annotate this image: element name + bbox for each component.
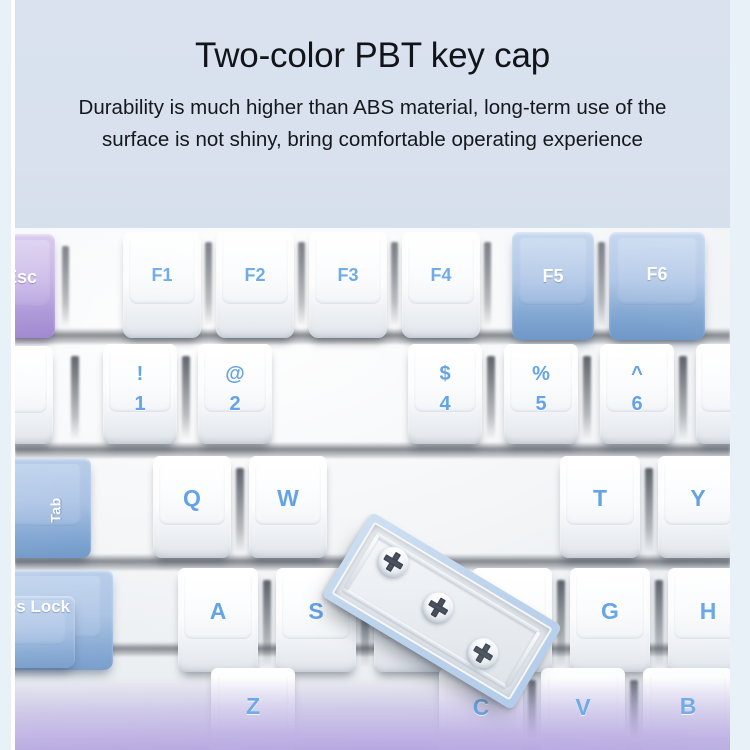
keycap-2-top: @ xyxy=(225,363,245,386)
key-seam xyxy=(182,356,190,440)
header-banner: Two-color PBT key cap Durability is much… xyxy=(15,0,730,228)
product-photo: Esc F1 F2 F3 F4 F5 F6 xyxy=(15,228,730,750)
keycap-tab-label: Tab xyxy=(48,497,64,522)
keycap-esc-label: Esc xyxy=(15,267,37,288)
keycap-f3[interactable]: F3 xyxy=(309,232,387,338)
keycap-7[interactable] xyxy=(696,344,730,444)
keycap-2-bottom: 2 xyxy=(229,393,240,416)
keycap-f3-label: F3 xyxy=(337,265,358,286)
keycap-f2[interactable]: F2 xyxy=(216,232,294,338)
keycap-6-bottom: 6 xyxy=(631,393,642,416)
keycap-stem-mount-1 xyxy=(373,541,414,582)
keycap-w-label: W xyxy=(277,485,299,512)
keycap-1-top: ! xyxy=(137,363,144,386)
key-seam xyxy=(263,580,271,668)
key-seam xyxy=(679,356,687,440)
keycap-s-label: S xyxy=(308,598,323,625)
key-seam xyxy=(645,468,653,554)
page-title: Two-color PBT key cap xyxy=(15,36,730,76)
keycap-5-bottom: 5 xyxy=(535,393,546,416)
keycap-tab[interactable]: Tab xyxy=(15,458,91,558)
keycap-a[interactable]: A xyxy=(178,568,258,672)
keycap-f4-label: F4 xyxy=(430,265,451,286)
keycap-f5-label: F5 xyxy=(542,266,563,287)
key-seam xyxy=(62,246,69,328)
keycap-f4[interactable]: F4 xyxy=(402,232,480,338)
keycap-y[interactable]: Y xyxy=(658,456,730,558)
key-seam xyxy=(598,242,605,328)
keycap-esc[interactable]: Esc xyxy=(15,234,55,338)
keycap-5-top: % xyxy=(532,363,550,386)
keycap-h[interactable]: H xyxy=(668,568,730,672)
keycap-h-label: H xyxy=(700,598,717,625)
key-seam xyxy=(484,242,491,328)
keycap-q-label: Q xyxy=(183,485,201,512)
keycap-w[interactable]: W xyxy=(249,456,327,558)
subtitle-line-1: Durability is much higher than ABS mater… xyxy=(25,92,720,124)
keycap-y-label: Y xyxy=(690,485,705,512)
keycap-t[interactable]: T xyxy=(560,456,640,558)
keycap-g[interactable]: G xyxy=(570,568,650,672)
subtitle-line-2: surface is not shiny, bring comfortable … xyxy=(25,124,720,156)
key-seam xyxy=(236,468,244,554)
keycap-g-label: G xyxy=(601,598,619,625)
product-infographic-page: Two-color PBT key cap Durability is much… xyxy=(0,0,750,750)
keycap-f2-label: F2 xyxy=(244,265,265,286)
keycap-f5[interactable]: F5 xyxy=(512,232,594,340)
keycap-stem-mount-3 xyxy=(463,633,504,674)
key-seam xyxy=(487,356,495,440)
keycap-f6-label: F6 xyxy=(646,264,667,285)
keycap-a-label: A xyxy=(210,598,227,625)
keycap-q[interactable]: Q xyxy=(153,456,231,558)
keycap-4-bottom: 4 xyxy=(439,393,450,416)
keycap-6-top: ^ xyxy=(631,363,643,386)
key-seam xyxy=(71,356,79,440)
keycap-4-top: $ xyxy=(439,363,450,386)
keycap-5[interactable]: % 5 xyxy=(504,344,578,444)
keycap-f6[interactable]: F6 xyxy=(609,232,705,340)
keycap-f1-label: F1 xyxy=(151,265,172,286)
page-subtitle: Durability is much higher than ABS mater… xyxy=(25,92,720,156)
keycap-t-label: T xyxy=(593,485,607,512)
keycap-shift[interactable] xyxy=(15,596,75,668)
keycap-stem-mount-2 xyxy=(418,587,459,628)
keycap-f1[interactable]: F1 xyxy=(123,232,201,338)
key-seam xyxy=(298,242,305,328)
keycap-1[interactable]: ! 1 xyxy=(103,344,177,444)
keycap-6[interactable]: ^ 6 xyxy=(600,344,674,444)
keycap-2[interactable]: @ 2 xyxy=(198,344,272,444)
keycap-4[interactable]: $ 4 xyxy=(408,344,482,444)
keycap-backtick[interactable] xyxy=(15,346,53,444)
key-seam xyxy=(391,242,398,328)
key-seam xyxy=(583,356,591,440)
keycap-1-bottom: 1 xyxy=(134,393,145,416)
key-seam xyxy=(655,580,663,668)
key-seam xyxy=(205,242,212,328)
